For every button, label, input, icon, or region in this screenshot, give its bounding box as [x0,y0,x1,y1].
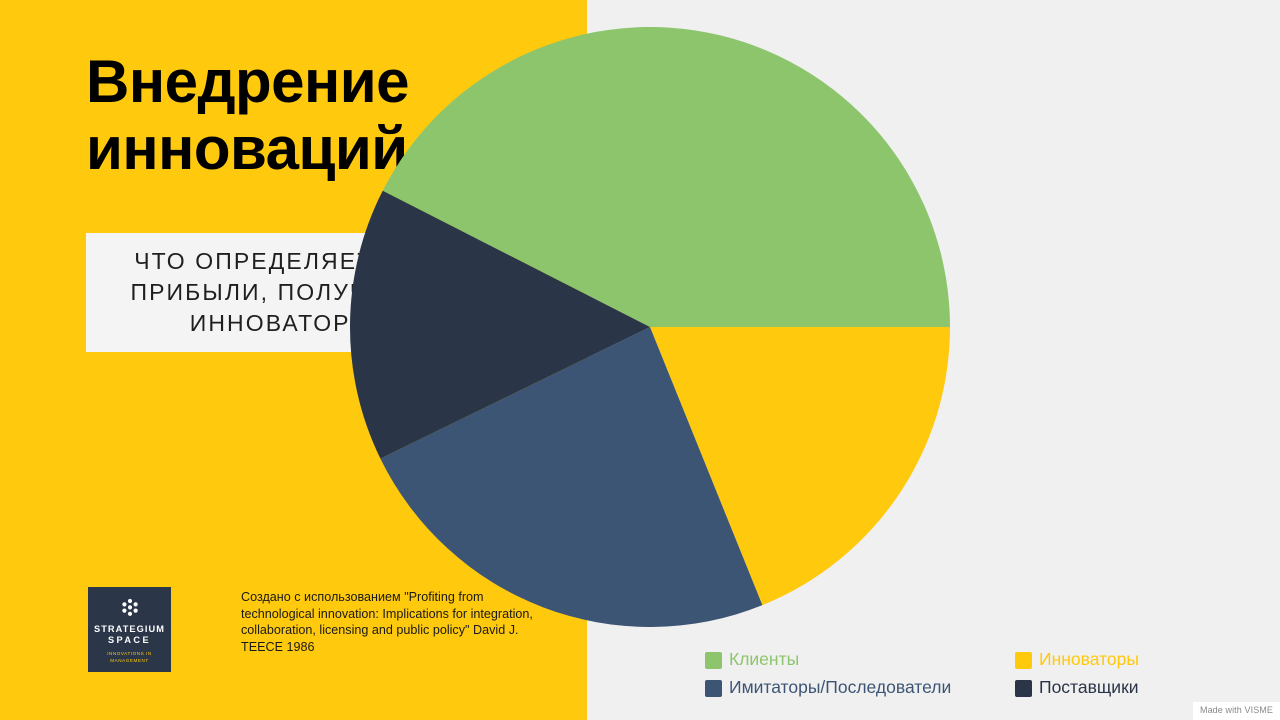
chart-panel: Клиенты Инноваторы Имитаторы/Последовате… [587,0,1280,720]
logo-tagline-line-1: INNOVATIONS IN [107,651,152,658]
logo-name: STRATEGIUM SPACE [94,624,165,646]
legend-swatch-innovators [1015,652,1032,669]
visme-badge[interactable]: Made with VISME [1193,702,1280,720]
pie-chart [350,27,950,627]
pie-chart-svg [350,27,950,627]
logo-name-line-2: SPACE [94,635,165,646]
legend-swatch-clients [705,652,722,669]
molecule-icon [117,598,143,620]
legend-swatch-imitators [705,680,722,697]
slide-root: Внедрение инноваций Что определяет долю … [0,0,1280,720]
legend-item-clients[interactable]: Клиенты [705,651,1015,669]
legend-label-suppliers: Поставщики [1039,679,1139,697]
legend-label-imitators: Имитаторы/Последователи [729,679,951,697]
legend-label-innovators: Инноваторы [1039,651,1139,669]
chart-legend: Клиенты Инноваторы Имитаторы/Последовате… [705,646,1180,702]
logo-name-line-1: STRATEGIUM [94,624,165,634]
logo: STRATEGIUM SPACE INNOVATIONS IN MANAGEME… [88,587,171,672]
legend-item-innovators[interactable]: Инноваторы [1015,651,1180,669]
logo-tagline-line-2: MANAGEMENT [107,658,152,665]
legend-label-clients: Клиенты [729,651,799,669]
legend-item-imitators[interactable]: Имитаторы/Последователи [705,679,1015,697]
legend-item-suppliers[interactable]: Поставщики [1015,679,1180,697]
legend-swatch-suppliers [1015,680,1032,697]
logo-tagline: INNOVATIONS IN MANAGEMENT [107,651,152,664]
